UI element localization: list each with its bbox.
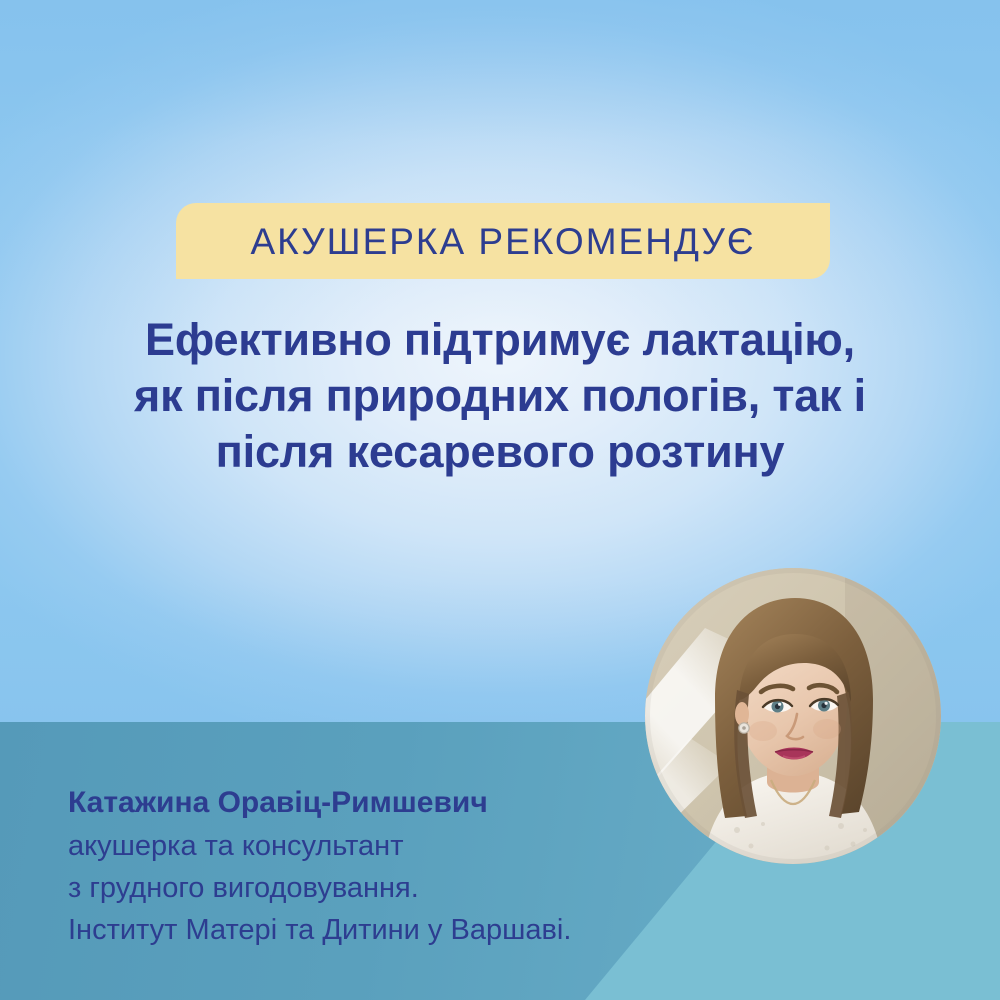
headline-line-3: після кесаревого розтину — [60, 424, 940, 480]
recommendation-badge-label: АКУШЕРКА РЕКОМЕНДУЄ — [251, 223, 756, 260]
headline: Ефективно підтримує лактацію, як після п… — [0, 312, 1000, 480]
headline-line-2: як після природних пологів, так і — [60, 368, 940, 424]
recommendation-badge: АКУШЕРКА РЕКОМЕНДУЄ — [176, 203, 830, 279]
promo-poster: АКУШЕРКА РЕКОМЕНДУЄ Ефективно підтримує … — [0, 0, 1000, 1000]
speaker-caption: Катажина Оравіц-Римшевич акушерка та кон… — [68, 782, 571, 951]
portrait-photo — [645, 568, 941, 864]
woman-portrait-icon — [645, 568, 941, 864]
speaker-role-line-1: акушерка та консультант — [68, 825, 571, 867]
headline-line-1: Ефективно підтримує лактацію, — [60, 312, 940, 368]
speaker-name: Катажина Оравіц-Римшевич — [68, 782, 571, 824]
speaker-affiliation: Інститут Матері та Дитини у Варшаві. — [68, 909, 571, 951]
speaker-role-line-2: з грудного вигодовування. — [68, 867, 571, 909]
